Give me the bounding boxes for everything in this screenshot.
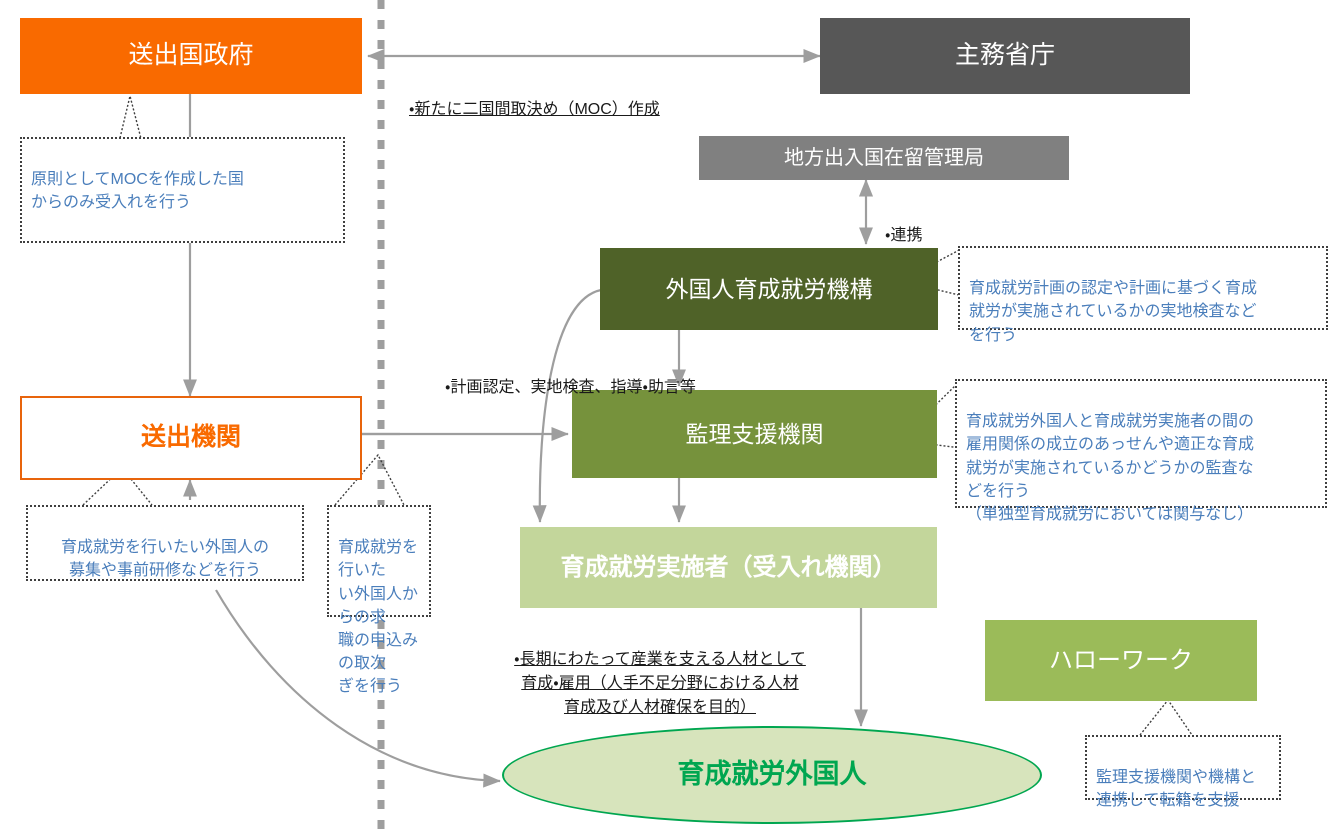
diagram-canvas: 送出国政府 主務省庁 地方出入国在留管理局 外国人育成就労機構 送出機関 監理支… — [0, 0, 1333, 835]
callout-text: 育成就労を行いたい外国人の 募集や事前研修などを行う — [61, 539, 269, 579]
node-label: 育成就労外国人 — [678, 758, 867, 792]
edge-label-moc: ・新たに二国間取決め（MOC）作成 — [409, 74, 660, 122]
callout-text: 監理支援機関や機構と 連携して転籍を支援 — [1096, 769, 1256, 809]
edge-label-plan-certification: ・計画認定、実地検査、指導・助言等 — [445, 352, 696, 400]
callout-organization-inspection: 育成就労計画の認定や計画に基づく育成 就労が実施されているかの実地検査など を行… — [958, 246, 1328, 330]
node-training-employment-implementer[interactable]: 育成就労実施者（受入れ機関） — [520, 527, 937, 608]
node-label: ハローワーク — [1049, 646, 1193, 676]
edge-label-text: ・計画認定、実地検査、指導・助言等 — [445, 379, 696, 396]
edge-label-text: ・長期にわたって産業を支える人材として 育成・雇用（人手不足分野における人材 育… — [514, 651, 806, 716]
callout-text: 育成就労を行いた い外国人からの求 職の申込みの取次 ぎを行う — [338, 539, 418, 695]
node-sending-country-government[interactable]: 送出国政府 — [20, 18, 362, 94]
node-hello-work[interactable]: ハローワーク — [985, 620, 1257, 701]
callout-job-application-broker: 育成就労を行いた い外国人からの求 職の申込みの取次 ぎを行う — [327, 505, 431, 617]
node-label: 地方出入国在留管理局 — [784, 146, 984, 171]
callout-text: 育成就労計画の認定や計画に基づく育成 就労が実施されているかの実地検査など を行… — [969, 280, 1257, 343]
node-label: 育成就労実施者（受入れ機関） — [561, 553, 897, 583]
node-competent-ministries[interactable]: 主務省庁 — [820, 18, 1190, 94]
callout-text: 育成就労外国人と育成就労実施者の間の 雇用関係の成立のあっせんや適正な育成 就労… — [966, 413, 1254, 523]
node-supervising-support-organization[interactable]: 監理支援機関 — [572, 390, 937, 478]
callout-text: 原則としてMOCを作成した国 からのみ受入れを行う — [31, 171, 244, 211]
callout-moc-principle: 原則としてMOCを作成した国 からのみ受入れを行う — [20, 137, 345, 243]
node-label: 送出機関 — [141, 422, 241, 453]
node-label: 主務省庁 — [955, 40, 1055, 71]
leader-hello-work — [1140, 700, 1192, 735]
node-training-employment-foreigner[interactable]: 育成就労外国人 — [502, 726, 1042, 824]
node-label: 外国人育成就労機構 — [666, 275, 873, 304]
node-label: 送出国政府 — [128, 40, 253, 71]
callout-hello-work-support: 監理支援機関や機構と 連携して転籍を支援 — [1085, 735, 1281, 800]
edge-label-cooperation: ・連携 — [885, 200, 922, 248]
node-foreigner-training-employment-organization[interactable]: 外国人育成就労機構 — [600, 248, 938, 330]
node-regional-immigration-bureau[interactable]: 地方出入国在留管理局 — [699, 136, 1069, 180]
node-label: 監理支援機関 — [686, 420, 824, 449]
callout-sending-recruit: 育成就労を行いたい外国人の 募集や事前研修などを行う — [26, 505, 304, 581]
callout-supervising-audit: 育成就労外国人と育成就労実施者の間の 雇用関係の成立のあっせんや適正な育成 就労… — [955, 379, 1327, 508]
edge-label-long-term: ・長期にわたって産業を支える人材として 育成・雇用（人手不足分野における人材 育… — [455, 624, 865, 720]
node-sending-organization[interactable]: 送出機関 — [20, 396, 362, 480]
edge-label-text: ・新たに二国間取決め（MOC）作成 — [409, 101, 660, 118]
edge-label-text: ・連携 — [885, 227, 922, 244]
